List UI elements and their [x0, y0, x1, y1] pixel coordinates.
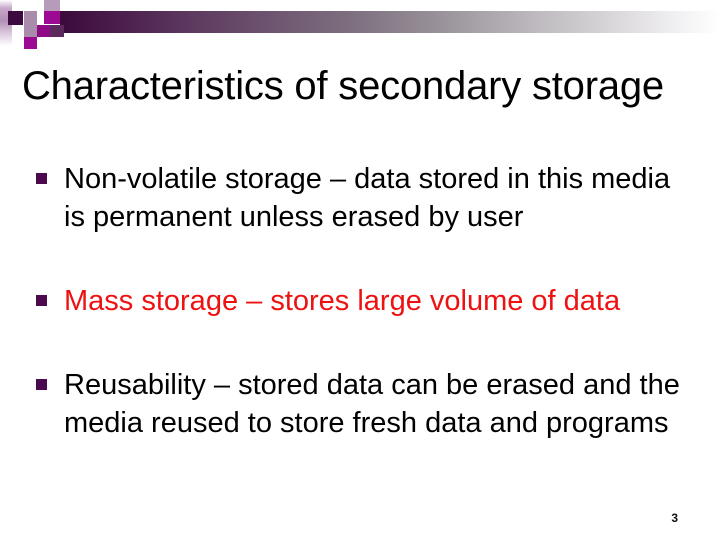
decoration-square-mauve-3 — [24, 25, 37, 37]
list-item: Mass storage – stores large volume of da… — [36, 282, 696, 320]
decoration-square-mauve-1 — [24, 11, 37, 25]
list-item: Non-volatile storage – data stored in th… — [36, 160, 696, 236]
bullet-square-icon — [36, 295, 47, 306]
bullet-text-mass-storage: Mass storage – stores large volume of da… — [64, 282, 696, 320]
bullet-square-icon — [36, 379, 47, 390]
decoration-square-plum-1 — [50, 25, 64, 37]
decoration-square-magenta-3 — [24, 37, 37, 49]
slide-number: 3 — [671, 511, 678, 525]
slide: Characteristics of secondary storage Non… — [0, 0, 720, 540]
bullet-list: Non-volatile storage – data stored in th… — [36, 160, 696, 442]
decoration-square-dark-1 — [8, 11, 23, 25]
bullet-text-non-volatile-storage: Non-volatile storage – data stored in th… — [64, 160, 696, 236]
list-item: Reusability – stored data can be erased … — [36, 366, 696, 442]
page-title: Characteristics of secondary storage — [22, 62, 702, 110]
slide-header-decoration — [0, 0, 720, 56]
decoration-square-magenta-1 — [44, 11, 60, 24]
decoration-gradient-band — [60, 11, 720, 33]
bullet-square-icon — [36, 173, 47, 184]
bullet-text-reusability: Reusability – stored data can be erased … — [64, 366, 696, 442]
decoration-square-magenta-2 — [37, 25, 50, 37]
